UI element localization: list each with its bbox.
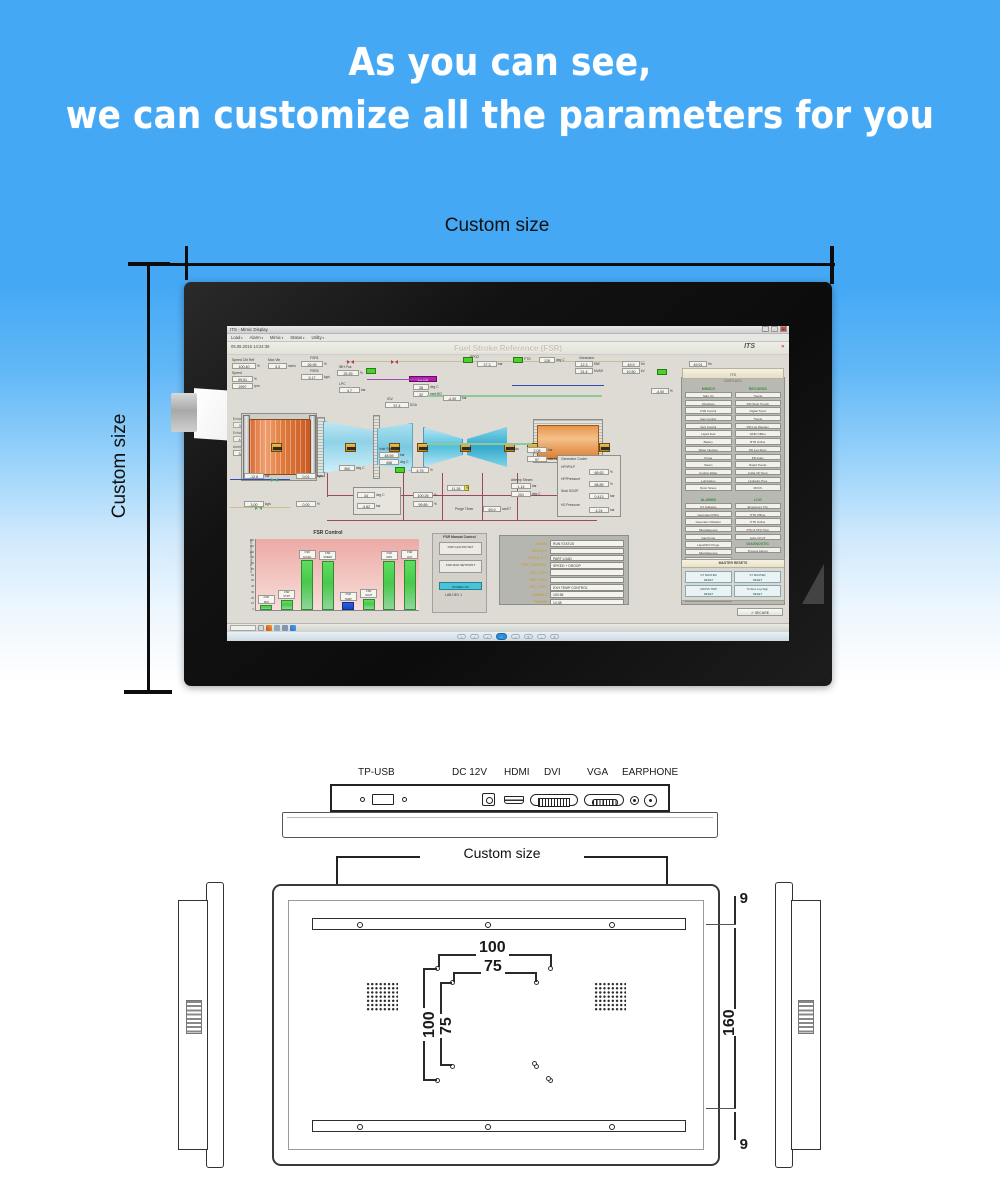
- status-key: RSC_FLP1: [504, 571, 550, 575]
- search-icon[interactable]: ⌕: [457, 634, 466, 640]
- its-display-button[interactable]: Purge: [685, 454, 732, 460]
- unit-inlet-steam-t: deg C: [400, 460, 409, 464]
- fsr-chart-ytick: 100: [250, 551, 254, 554]
- mount-screw-b3: [609, 1124, 615, 1130]
- pipe-steam-green-2: [427, 443, 532, 445]
- fsr-chart-ytick: 50: [251, 579, 254, 582]
- label-speed-ctrl-ref: Speed Ctrl Ref: [232, 358, 254, 362]
- its-display-button[interactable]: Shutdown: [685, 400, 732, 406]
- manual-power-toggle[interactable]: POWER ON: [439, 582, 482, 590]
- unit-igv: DGA: [410, 403, 417, 407]
- its-display-button[interactable]: MVCS: [735, 484, 782, 490]
- its-display-button[interactable]: Collar Oil Temp: [735, 469, 782, 475]
- value-exh-4: 99.89: [413, 501, 433, 507]
- pipe-fuel-drop-3: [482, 473, 483, 521]
- unit-conds: bar: [548, 448, 553, 452]
- dim-75-h-text: 75: [481, 958, 505, 976]
- master-reset-button[interactable]: Turbine Log SignRESET: [734, 585, 781, 597]
- fsr-chart-ytick: 90: [251, 556, 254, 559]
- height-dimension-label: Custom size: [109, 341, 131, 591]
- its-display-button[interactable]: PID Short Trends: [735, 400, 782, 406]
- label-inlet-steam: Inlet Steam: [379, 447, 396, 451]
- label-cooler-4: H2 Pressure: [561, 503, 580, 507]
- status-value: [550, 548, 624, 555]
- fsr-chart-bar: [281, 600, 293, 610]
- status-row: SELECT3: [504, 547, 624, 554]
- valve-top-4[interactable]: [395, 360, 398, 364]
- its-display-button[interactable]: Hydraulic Pres: [735, 477, 782, 483]
- unit-cooler-4: bar: [610, 508, 615, 512]
- unit-inlet-temp: deg C: [430, 385, 439, 389]
- side-connector-nub: [171, 393, 197, 432]
- port-label-hdmi: HDMI: [504, 767, 530, 778]
- manual-panel-footer: LAB DEV 1: [445, 593, 462, 597]
- its-display-button[interactable]: Miscellaneous: [685, 549, 732, 555]
- next-icon[interactable]: ››: [511, 634, 520, 640]
- port-label-vga: VGA: [587, 767, 608, 778]
- hmi-menubar[interactable]: Load Alarm Mimic Status Utility: [227, 334, 789, 342]
- value-igv: 57.4: [385, 402, 409, 408]
- tech-width-dimension-label: Custom size: [420, 845, 584, 861]
- value-gen-mw: 12.3: [575, 361, 593, 367]
- unit-purge-timer: secET: [502, 507, 511, 511]
- its-display-button[interactable]: Miscellaneous: [685, 526, 732, 532]
- hmi-titlebar-text: ITS - Mimic Display: [230, 326, 268, 333]
- value-gas-4: 0.00: [296, 501, 316, 507]
- its-display-button[interactable]: Rotor Stress: [685, 484, 732, 490]
- master-reset-button[interactable]: GT MASTERRESET: [685, 571, 732, 583]
- value-gas-6: 4.75: [411, 467, 429, 473]
- fsr-man-setpoint-button[interactable]: FSR MAN SETPOINT: [439, 560, 482, 573]
- dim-75-v-tick-b: [440, 1064, 452, 1066]
- status-key: RSC_FLP2: [504, 578, 550, 582]
- its-display-button[interactable]: Gas Cooling: [685, 415, 732, 421]
- its-display-button[interactable]: Digital Trend: [735, 407, 782, 413]
- value-bar-neg: -4.30: [443, 395, 461, 401]
- master-resets-panel: MASTER RESETS GT MASTERRESETST MASTERRES…: [681, 559, 785, 601]
- its-column-mimics: MIMICS Start UpShutdownFSR ControlGas Co…: [685, 385, 732, 492]
- earphone-jack-1: [630, 796, 639, 805]
- value-inlet-steam-t: 458: [379, 459, 399, 465]
- value-speed-rpm: 2997: [232, 383, 253, 389]
- ext-line-bottom: [706, 1108, 736, 1109]
- fsr-chart-bar-tag: FSRMIN: [258, 595, 275, 604]
- menu-load[interactable]: Load: [231, 335, 243, 340]
- dim-9-top-text: 9: [740, 890, 748, 907]
- dim-100-v-text: 100: [421, 1008, 439, 1041]
- io-panel-strip: [330, 784, 670, 812]
- width-dimension-label: Custom size: [372, 215, 622, 237]
- home-icon[interactable]: ⌂: [496, 633, 507, 640]
- hmi-navigation-bar[interactable]: ⌕ + ‹‹ ⌂ ›› ↻ ‹ ✕: [227, 632, 789, 641]
- minimize-icon[interactable]: _: [762, 326, 769, 332]
- app-icon-1[interactable]: [266, 625, 272, 631]
- its-display-button[interactable]: Lubrication: [685, 477, 732, 483]
- status-row: RSC_FLP1: [504, 569, 624, 576]
- menu-utility[interactable]: Utility: [311, 335, 324, 340]
- io-screw-left: [360, 797, 365, 802]
- unit-gas-5: deg C: [356, 466, 365, 470]
- unit-cooler-2: %: [610, 482, 613, 486]
- label-cooler-3: Seal SGOP: [561, 489, 579, 493]
- label-cooler-1: HP/IP/LP: [561, 465, 575, 469]
- label-cooler-2: HP/Pressure: [561, 477, 580, 481]
- refresh-icon[interactable]: ↻: [524, 634, 533, 640]
- its-col1-buttons[interactable]: Start UpShutdownFSR ControlGas CoolingVe…: [685, 392, 732, 491]
- status-value: SPEED + DROOP: [550, 562, 624, 569]
- plus-icon[interactable]: +: [470, 634, 479, 640]
- value-attemp-steam: 1.14: [511, 483, 531, 489]
- its-display-button[interactable]: FSR Control: [685, 407, 732, 413]
- status-row: RSC_FLP2: [504, 577, 624, 584]
- fsr-chart-bar-tag: FSRMAN: [381, 551, 398, 560]
- dvi-connector: [530, 794, 578, 806]
- value-conds: 2.08: [527, 447, 547, 453]
- pipe-fuel-drop-2: [442, 473, 443, 521]
- start-icon[interactable]: [258, 625, 264, 631]
- its-display-button[interactable]: Rapid Trends: [735, 461, 782, 467]
- unit-fsr1: %: [324, 362, 327, 366]
- port-label-earphone: EARPHONE: [622, 767, 678, 778]
- value-ppg2: 27.3: [477, 361, 497, 367]
- dim-100-h-text: 100: [476, 939, 509, 957]
- status-key: STRSA_P_3: [504, 556, 550, 560]
- its-display-button[interactable]: Gas Purge: [685, 534, 732, 540]
- value-gas-3: 3.00: [244, 501, 264, 507]
- side-profile-left-vent: [186, 1000, 202, 1034]
- its-display-button[interactable]: PD Log Short: [735, 446, 782, 452]
- fsr-chart-bar-tag: FSRSPEED: [319, 551, 336, 560]
- dim-100-v-tick-t: [423, 968, 437, 970]
- label-lpc: LPC: [339, 382, 346, 386]
- monitor-screen: ITS - Mimic Display _ ▫ ✕ Load Alarm Mim…: [227, 326, 789, 641]
- fsr-chart-ytick: 60: [251, 574, 254, 577]
- its-display-button[interactable]: Generator RTDs: [685, 511, 732, 517]
- unit-inlet-steam: bar: [400, 453, 405, 457]
- dim-75-v-tick-t: [440, 982, 452, 984]
- fsr-chart-bar-tag: FSRSHUT: [360, 589, 377, 598]
- label-generator: Generator: [579, 356, 594, 360]
- status-value: EXH TEMP CONTROL: [550, 584, 624, 591]
- its-display-button[interactable]: GT Software: [685, 503, 732, 509]
- fsr-chart-ytick: 20: [251, 597, 254, 600]
- status-key: SELECT3: [504, 549, 550, 553]
- unit-attemp-steam: bar: [532, 484, 537, 488]
- close-icon[interactable]: ✕: [780, 326, 787, 332]
- vga-connector: [584, 794, 624, 806]
- menu-status[interactable]: Status: [290, 335, 304, 340]
- fsr-chart-ytick: 120: [250, 539, 254, 542]
- port-label-dc-12v: DC 12V: [452, 767, 487, 778]
- status-row: STRSA_P_3PART LOAD: [504, 555, 624, 562]
- value-fsr1: 26.95: [301, 361, 323, 367]
- generator-rotor: [537, 425, 599, 459]
- its-display-button[interactable]: Cooling Water: [685, 469, 732, 475]
- label-gen-cooler: Generator Cooler: [561, 457, 587, 461]
- fsr-chart-ytick: 10: [251, 602, 254, 605]
- value-inlet-temp: 38: [413, 384, 429, 390]
- unit-gas-7: %: [466, 486, 469, 490]
- value-ftg: 128: [539, 357, 555, 363]
- width-dimension-line: [148, 263, 835, 266]
- unit-cooler-1: %: [610, 470, 613, 474]
- unit-gas-3: kg/s: [265, 502, 271, 506]
- pipe-fuel-drop-1: [403, 473, 404, 521]
- compressor-bearing: [271, 443, 282, 452]
- dim-100-v-tick-b: [423, 1079, 437, 1081]
- unit-bar-neg: bar: [462, 396, 467, 400]
- hmi-logo: ITS: [744, 343, 755, 350]
- fsr-chart-yticks: 1201101009080706050403020100: [243, 539, 254, 611]
- its-display-button[interactable]: PTD Offline: [735, 511, 782, 517]
- value-cooler-3: 0.413: [589, 493, 609, 499]
- app-icon-4[interactable]: [290, 625, 296, 631]
- hmi-window-buttons[interactable]: _ ▫ ✕: [762, 326, 789, 333]
- dim-9-bottom-text: 9: [740, 1136, 748, 1153]
- unit-speed-ctrl-ref: %: [257, 364, 260, 368]
- unit-lpc: bar: [361, 388, 366, 392]
- pipe-fuel-riser: [327, 473, 328, 497]
- its-display-button[interactable]: Liquid/IGV Purge: [685, 541, 732, 547]
- height-dimension-line: [147, 262, 150, 694]
- tp-usb-connector: [372, 794, 394, 805]
- mount-screw-b2: [485, 1124, 491, 1130]
- its-display-button[interactable]: Process Alarms: [735, 547, 782, 553]
- value-cooler-2: 68.85: [589, 481, 609, 487]
- fsr-chart-ytick: 70: [251, 568, 254, 571]
- fsr-chart-bar: [342, 602, 354, 610]
- bezel-corner-highlight: [802, 564, 824, 604]
- dim-75-h-tick-r: [535, 972, 537, 982]
- value-speed-ctrl-ref: 100.40: [232, 363, 256, 369]
- fsr-chart-bar-tag: FSROUT: [401, 550, 418, 559]
- master-resets-title: MASTER RESETS: [682, 560, 784, 568]
- label-max-vib: Max Vib: [268, 358, 280, 362]
- extra-hole-2: [546, 1076, 551, 1081]
- close-nav-icon[interactable]: ✕: [550, 634, 559, 640]
- menu-alarm[interactable]: Alarm: [250, 335, 263, 340]
- unit-gas-1: bar: [265, 474, 270, 478]
- monitor-device: ITS - Mimic Display _ ▫ ✕ Load Alarm Mim…: [184, 282, 832, 686]
- its-display-button[interactable]: Liquid Fuel: [685, 430, 732, 436]
- status-row: FSRMAX100.58: [504, 591, 624, 598]
- unit-fsr2: kg/s: [324, 375, 330, 379]
- unit-gas-6: %: [430, 468, 433, 472]
- value-pct-neg: -4.00: [651, 388, 669, 394]
- its-display-button[interactable]: Trends: [735, 392, 782, 398]
- speaker-grille-left: [366, 982, 398, 1012]
- valve-top-2[interactable]: [351, 360, 354, 364]
- label-purge-timer: Purge Timer: [455, 507, 473, 511]
- speaker-grille-right: [594, 982, 626, 1012]
- back-icon[interactable]: ‹: [537, 634, 546, 640]
- its-display-button[interactable]: PTD Online: [735, 518, 782, 524]
- label-conds: Conds: [509, 447, 519, 451]
- value-exh-1: 34: [357, 492, 375, 498]
- value-gas-7: 11.28: [447, 485, 465, 491]
- page-headline: As you can see, we can customize all the…: [0, 38, 1000, 139]
- menu-mimic[interactable]: Mimic: [270, 335, 283, 340]
- its-col4-buttons[interactable]: Emergency TripPTD OfflinePTD OnlinePTD &…: [735, 503, 782, 540]
- side-profile-right-vent: [798, 1000, 814, 1034]
- status-row: AGRM3RUN STATUS: [504, 540, 624, 547]
- its-col2-head: RECORDS: [735, 387, 782, 391]
- label-fsr1: FSR1: [310, 356, 319, 360]
- unit-kv-1: kV: [641, 369, 645, 373]
- extra-hole-1: [532, 1061, 537, 1066]
- its-display-button[interactable]: PD Index: [735, 454, 782, 460]
- its-display-button[interactable]: Water Injection: [685, 446, 732, 452]
- rear-view-outline: 100 75 100 75 9 160 9: [272, 884, 720, 1166]
- fsr-gas-pri-set-button[interactable]: FSR GAS PRI SET: [439, 542, 482, 555]
- fsr-chart-bar: [404, 560, 416, 610]
- app-icon-3[interactable]: [282, 625, 288, 631]
- unit-cooler-3: bar: [610, 494, 615, 498]
- valve-water-2[interactable]: [275, 478, 278, 482]
- port-label-dvi: DVI: [544, 767, 561, 778]
- hmi-close-icon[interactable]: ✕: [781, 344, 785, 350]
- master-reset-button[interactable]: ST MASTERRESET: [734, 571, 781, 583]
- its-col5-head: DIAGNOSTIC: [735, 542, 782, 546]
- app-icon-2[interactable]: [274, 625, 280, 631]
- its-display-button[interactable]: PTD & STD Trips: [735, 526, 782, 532]
- its-display-button[interactable]: Start Up: [685, 392, 732, 398]
- its-display-button[interactable]: WHR Offline: [735, 430, 782, 436]
- width-dimension-cap-left: [185, 246, 188, 280]
- value-purge-timer: 63.9: [483, 506, 501, 512]
- fsr-control-chart: FSR Control Fuel Stroke Reference (%) 12…: [233, 530, 423, 618]
- status-key: FSR_CONTROL: [504, 563, 550, 567]
- value-cooler-1: 68.63: [589, 469, 609, 475]
- master-reset-button[interactable]: CROSS TRIPRESET: [685, 585, 732, 597]
- unit-speed-rpm: rpm: [254, 384, 260, 388]
- unit-hz-2: Hz: [708, 362, 712, 366]
- fsr-chart-ytick: 110: [250, 545, 254, 548]
- status-value: PART LOAD: [550, 555, 624, 562]
- master-resets-grid[interactable]: GT MASTERRESETST MASTERRESETCROSS TRIPRE…: [682, 568, 784, 600]
- fsr-chart-bar: [363, 599, 375, 610]
- value-kv-1: 10.50: [622, 368, 640, 374]
- maximize-icon[interactable]: ▫: [771, 326, 778, 332]
- dim-75-v-text: 75: [438, 1014, 456, 1038]
- fsr-chart-bar: [383, 561, 395, 610]
- unit-ibh-pos: %: [360, 371, 363, 375]
- mount-screw-t3: [609, 922, 615, 928]
- valve-top-1[interactable]: [347, 360, 350, 364]
- dc-12v-connector: [482, 793, 495, 806]
- value-gen-mvar: 31.4: [575, 368, 593, 374]
- hmi-taskbar[interactable]: [227, 623, 789, 632]
- unit-max-vib: mm/s: [288, 364, 296, 368]
- io-panel-base: [282, 812, 718, 838]
- its-col5-buttons[interactable]: Process Alarms: [735, 547, 782, 553]
- led-indicator-3: [513, 357, 523, 363]
- status-row: RSC_FLP3EXH TEMP CONTROL: [504, 584, 624, 591]
- dim-100-h-tick-r: [550, 954, 552, 967]
- status-panel: AGRM3RUN STATUSSELECT3STRSA_P_3PART LOAD…: [499, 535, 629, 605]
- label-ibh-pos: IBH Pos: [339, 365, 351, 369]
- manual-panel-title: FSR Manual Control: [433, 535, 486, 539]
- led-indicator-6: [657, 369, 667, 375]
- its-display-button[interactable]: Battery: [685, 438, 732, 444]
- its-display-button[interactable]: BTR Online: [735, 438, 782, 444]
- mount-screw-t2: [485, 922, 491, 928]
- value-conds-hg: 97: [527, 456, 547, 462]
- secure-button[interactable]: SECURE: [737, 608, 783, 616]
- value-attemp-steam-t: 201: [511, 491, 531, 497]
- status-value: RUN STATUS: [550, 540, 624, 547]
- pipe-fuel-return: [327, 520, 597, 521]
- unit-speed: %: [254, 377, 257, 381]
- steam-turbine-hp: [423, 427, 463, 467]
- turbine-bearing-1: [345, 443, 356, 452]
- unit-gen-mw: MW: [594, 362, 600, 366]
- valve-water-1[interactable]: [271, 478, 274, 482]
- height-dimension-cap-bottom: [124, 690, 172, 694]
- value-fsr2: 5.17: [301, 374, 323, 380]
- unit-ftg: deg C: [556, 358, 565, 362]
- value-exh-3: 100.26: [413, 492, 433, 498]
- prev-icon[interactable]: ‹‹: [483, 634, 492, 640]
- label-speed: Speed: [232, 371, 242, 375]
- its-col4-head: LOG: [735, 498, 782, 502]
- valve-top-3[interactable]: [391, 360, 394, 364]
- fsr-manual-control-panel: FSR Manual Control FSR GAS PRI SET FSR M…: [432, 533, 487, 613]
- status-value: 100.58: [550, 591, 624, 598]
- dim-100-h-tick-l: [438, 954, 440, 967]
- hmi-titlebar: ITS - Mimic Display _ ▫ ✕: [227, 326, 789, 334]
- pipe-water-blue-2: [512, 385, 604, 386]
- fsr-chart-ytick: 80: [251, 562, 254, 565]
- its-display-button[interactable]: Generator Vibration: [685, 518, 732, 524]
- height-dimension-cap-top: [128, 262, 170, 266]
- its-display-button[interactable]: Emergency Trip: [735, 503, 782, 509]
- pipe-inlet-air: [367, 379, 427, 380]
- unit-exh-1: deg C: [376, 493, 385, 497]
- port-label-tp-usb: TP-USB: [358, 767, 395, 778]
- status-row: FSRMIN14.38: [504, 598, 624, 605]
- label-fsr2: FSR2: [310, 369, 319, 373]
- label-ftg: FTG: [524, 357, 531, 361]
- unit-exh-2: bar: [376, 504, 381, 508]
- dim-160-text: 160: [721, 1009, 739, 1036]
- fsr-chart-bar-tag: FSRSTRT: [278, 590, 295, 599]
- its-display-button[interactable]: Lube Oil GT: [735, 534, 782, 540]
- its-display-button[interactable]: PID Log Diagram: [735, 423, 782, 429]
- ext-line-top: [706, 924, 736, 925]
- taskbar-field[interactable]: [230, 625, 256, 631]
- hdmi-connector: [504, 796, 524, 804]
- unit-pct-neg: %: [670, 389, 673, 393]
- generator-bearing-right: [599, 443, 610, 452]
- its-button-columns: MIMICS Start UpShutdownFSR ControlGas Co…: [682, 383, 784, 492]
- dim-75-h-tick-l: [453, 972, 455, 982]
- its-col3-head: ALARMS: [685, 498, 732, 502]
- value-gas-2: 0.01: [296, 473, 316, 479]
- its-display-button[interactable]: Vent Control: [685, 423, 732, 429]
- its-display-button[interactable]: Steam: [685, 461, 732, 467]
- unit-gas-4: %: [317, 502, 320, 506]
- its-col2-buttons[interactable]: TrendsPID Short TrendsDigital TrendTrend…: [735, 392, 782, 491]
- value-exh-2: -4.82: [357, 503, 375, 509]
- its-display-button[interactable]: Trends: [735, 415, 782, 421]
- value-max-vib: 3.3: [268, 363, 287, 369]
- value-lpc: 4.7: [339, 387, 360, 393]
- headline-line-1: As you can see,: [0, 38, 1000, 86]
- steam-turbine-lp: [467, 427, 507, 467]
- dim-9-top-line: [734, 896, 736, 924]
- fsr-chart-ytick: 30: [251, 591, 254, 594]
